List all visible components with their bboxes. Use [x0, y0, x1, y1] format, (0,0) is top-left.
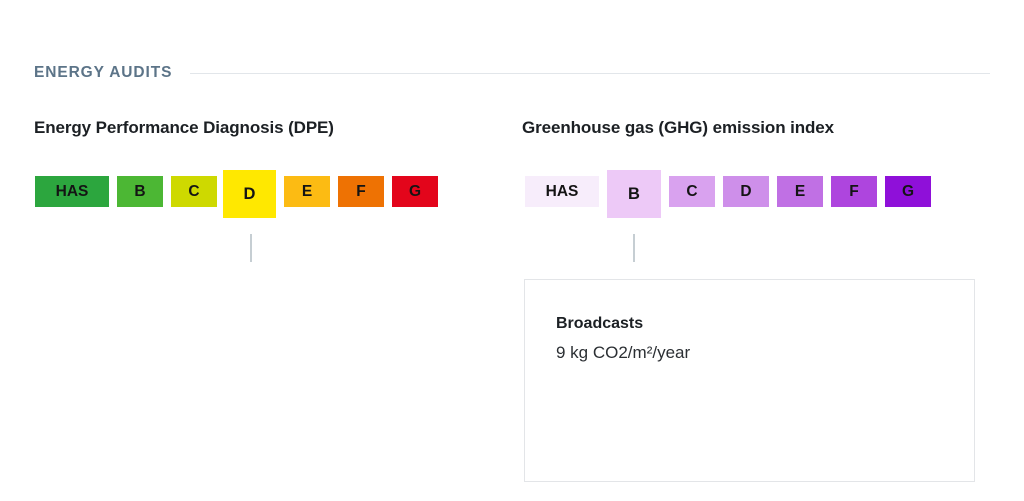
emissions-label: Broadcasts — [556, 316, 643, 332]
dpe-grade-c: C — [171, 176, 217, 207]
section-divider — [190, 73, 990, 74]
dpe-title: Energy Performance Diagnosis (DPE) — [34, 119, 334, 136]
ghg-grade-d: D — [723, 176, 769, 207]
emissions-value: 9 kg CO2/m²/year — [556, 342, 690, 365]
ghg-grade-f: F — [831, 176, 877, 207]
dpe-grade-g: G — [392, 176, 438, 207]
section-title: ENERGY AUDITS — [34, 65, 172, 81]
ghg-grade-e: E — [777, 176, 823, 207]
dpe-grade-e: E — [284, 176, 330, 207]
dpe-selected-marker — [250, 234, 252, 262]
dpe-grade-has: HAS — [35, 176, 109, 207]
ghg-grade-b: B — [607, 170, 661, 218]
dpe-grade-f: F — [338, 176, 384, 207]
dpe-grade-d: D — [223, 170, 276, 218]
ghg-selected-marker — [633, 234, 635, 262]
ghg-grade-g: G — [885, 176, 931, 207]
ghg-grade-c: C — [669, 176, 715, 207]
dpe-grade-b: B — [117, 176, 163, 207]
ghg-title: Greenhouse gas (GHG) emission index — [522, 119, 834, 136]
emissions-info-box: Broadcasts 9 kg CO2/m²/year — [524, 279, 975, 482]
section-header: ENERGY AUDITS — [34, 60, 990, 86]
ghg-grade-has: HAS — [525, 176, 599, 207]
